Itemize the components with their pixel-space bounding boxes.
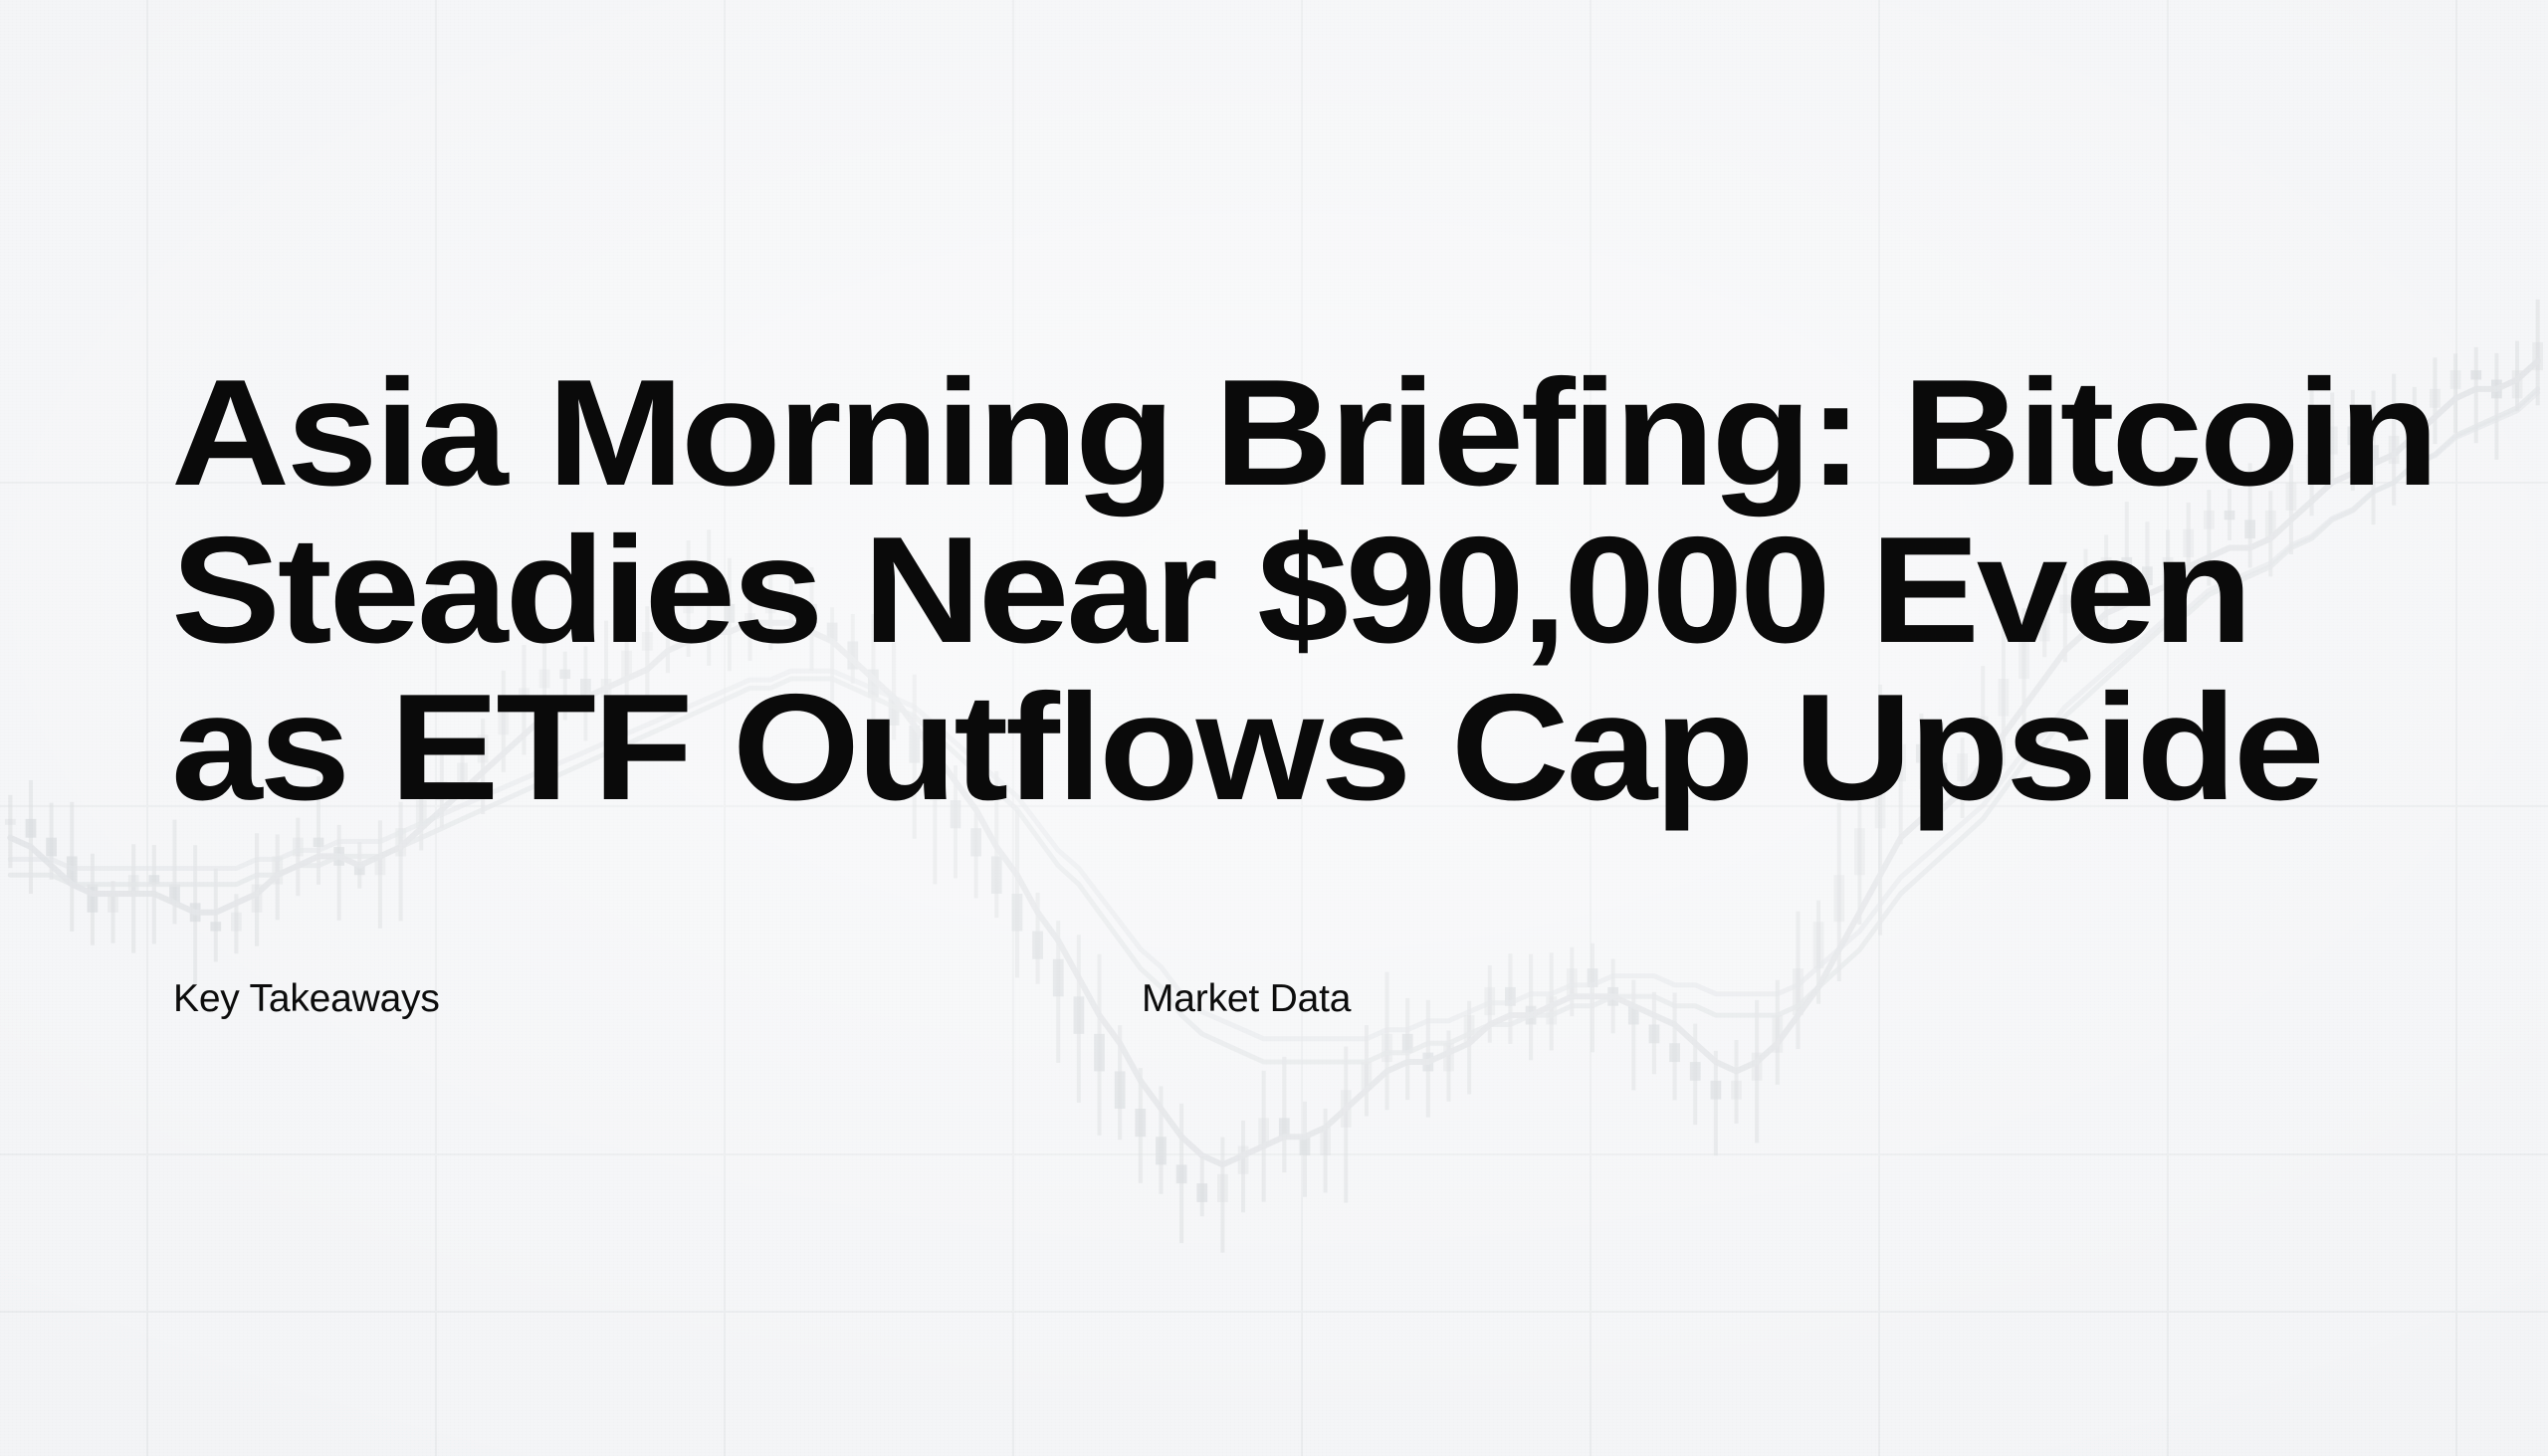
headline-line-1: Asia Morning Briefing: Bitcoin: [171, 354, 2548, 512]
article-hero-card: Asia Morning Briefing: Bitcoin Steadies …: [0, 0, 2548, 1456]
section-heading-market-data: Market Data: [1142, 976, 1351, 1022]
section-heading-key-takeaways: Key Takeaways: [173, 976, 440, 1022]
headline-line-3: as ETF Outflows Cap Upside: [171, 669, 2548, 826]
page-title: Asia Morning Briefing: Bitcoin Steadies …: [171, 354, 2548, 826]
headline-line-2: Steadies Near $90,000 Even: [171, 512, 2548, 669]
